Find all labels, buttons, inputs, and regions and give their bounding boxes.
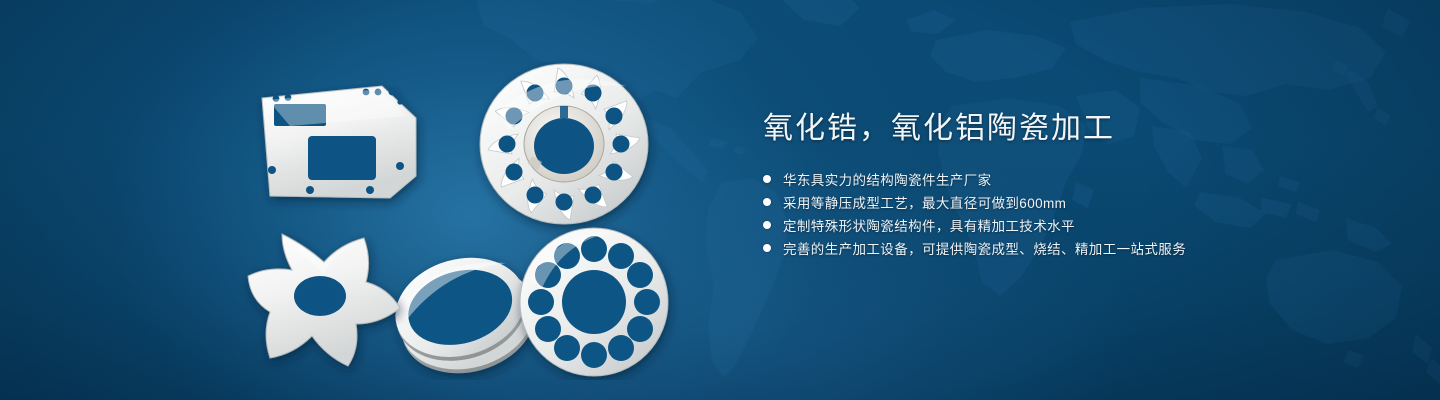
product-image-group — [230, 40, 700, 380]
ceramic-hole-disc — [520, 228, 668, 376]
list-item-label: 定制特殊形状陶瓷结构件，具有精加工技术水平 — [783, 215, 1075, 235]
bullet-dot-icon — [763, 198, 771, 206]
bullet-dot-icon — [763, 244, 771, 252]
page-title: 氧化锆，氧化铝陶瓷加工 — [763, 108, 1383, 150]
bullet-dot-icon — [763, 175, 771, 183]
banner-copy: 氧化锆，氧化铝陶瓷加工 华东具实力的结构陶瓷件生产厂家 采用等静压成型工艺，最大… — [763, 108, 1383, 260]
list-item: 华东具实力的结构陶瓷件生产厂家 — [763, 168, 1383, 190]
list-item: 定制特殊形状陶瓷结构件，具有精加工技术水平 — [763, 214, 1383, 236]
list-item-label: 采用等静压成型工艺，最大直径可做到600mm — [783, 192, 1066, 212]
list-item-label: 完善的生产加工设备，可提供陶瓷成型、烧结、精加工一站式服务 — [783, 238, 1186, 258]
list-item-label: 华东具实力的结构陶瓷件生产厂家 — [783, 169, 992, 189]
feature-list: 华东具实力的结构陶瓷件生产厂家 采用等静压成型工艺，最大直径可做到600mm 定… — [763, 168, 1383, 259]
ceramic-impeller — [480, 64, 648, 224]
list-item: 采用等静压成型工艺，最大直径可做到600mm — [763, 191, 1383, 213]
hero-banner: 氧化锆，氧化铝陶瓷加工 华东具实力的结构陶瓷件生产厂家 采用等静压成型工艺，最大… — [0, 0, 1440, 400]
ceramic-plate — [262, 86, 416, 198]
bullet-dot-icon — [763, 221, 771, 229]
ceramic-cross — [248, 234, 400, 366]
list-item: 完善的生产加工设备，可提供陶瓷成型、烧结、精加工一站式服务 — [763, 237, 1383, 259]
